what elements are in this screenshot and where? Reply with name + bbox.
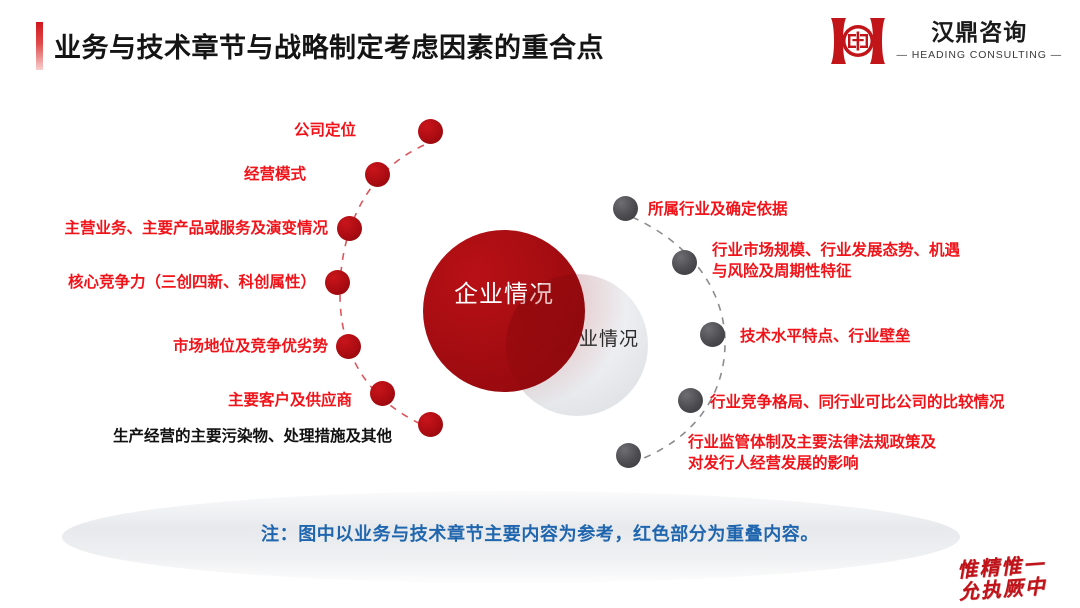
label-left-4: 核心竞争力（三创四新、科创属性） bbox=[10, 272, 316, 293]
logo-text-block: 汉鼎咨询 — HEADING CONSULTING — bbox=[897, 21, 1062, 61]
label-left-2: 经营模式 bbox=[10, 164, 306, 185]
label-right-1: 所属行业及确定依据 bbox=[648, 199, 1068, 220]
node-dot-left-7[interactable] bbox=[418, 412, 443, 437]
label-left-1: 公司定位 bbox=[10, 120, 356, 141]
label-left-5: 市场地位及竞争优劣势 bbox=[10, 336, 328, 357]
node-dot-left-2[interactable] bbox=[365, 162, 390, 187]
heading-consulting-h-seal-icon bbox=[829, 16, 887, 66]
node-dot-right-4[interactable] bbox=[678, 388, 703, 413]
node-dot-right-2[interactable] bbox=[672, 250, 697, 275]
footer-note: 注：图中以业务与技术章节主要内容为参考，红色部分为重叠内容。 bbox=[0, 520, 1080, 546]
label-left-6: 主要客户及供应商 bbox=[10, 390, 352, 411]
node-dot-right-5[interactable] bbox=[616, 443, 641, 468]
title-accent-bar bbox=[36, 22, 43, 70]
label-left-3: 主营业务、主要产品或服务及演变情况 bbox=[10, 218, 328, 239]
company-logo: 汉鼎咨询 — HEADING CONSULTING — bbox=[829, 16, 1062, 66]
label-right-4: 行业竞争格局、同行业可比公司的比较情况 bbox=[710, 392, 1078, 413]
node-dot-left-1[interactable] bbox=[418, 119, 443, 144]
node-dot-left-3[interactable] bbox=[337, 216, 362, 241]
node-dot-left-4[interactable] bbox=[325, 270, 350, 295]
page-title: 业务与技术章节与战略制定考虑因素的重合点 bbox=[54, 26, 604, 65]
label-left-7: 生产经营的主要污染物、处理措施及其他 bbox=[10, 426, 392, 447]
label-right-5: 行业监管体制及主要法律法规政策及 对发行人经营发展的影响 bbox=[688, 432, 1070, 475]
calligraphy-watermark: 惟精惟一 允执厥中 bbox=[957, 554, 1048, 603]
node-dot-right-3[interactable] bbox=[700, 322, 725, 347]
label-right-3: 技术水平特点、行业壁垒 bbox=[740, 326, 1070, 347]
logo-company-name-cn: 汉鼎咨询 bbox=[931, 21, 1027, 44]
label-right-2: 行业市场规模、行业发展态势、机遇 与风险及周期性特征 bbox=[712, 240, 1078, 283]
node-dot-left-5[interactable] bbox=[336, 334, 361, 359]
circle-enterprise: 企业情况 bbox=[423, 230, 585, 392]
circle-enterprise-label: 企业情况 bbox=[423, 274, 585, 309]
node-dot-right-1[interactable] bbox=[613, 196, 638, 221]
slide-canvas: 业务与技术章节与战略制定考虑因素的重合点 bbox=[0, 0, 1080, 608]
calligraphy-line-2: 允执厥中 bbox=[958, 575, 1047, 603]
logo-company-name-en: — HEADING CONSULTING — bbox=[897, 50, 1062, 61]
node-dot-left-6[interactable] bbox=[370, 381, 395, 406]
